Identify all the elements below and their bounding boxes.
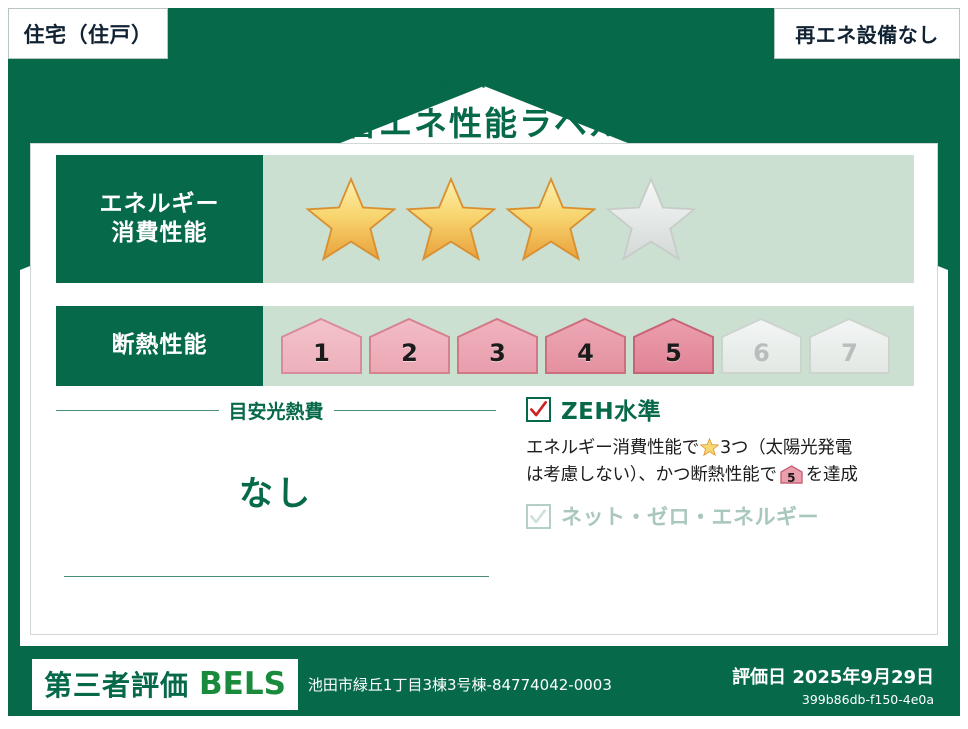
- utility-cost-block: 目安光熱費 なし: [56, 397, 496, 515]
- insulation-performance-value: 1 2: [263, 306, 914, 386]
- insulation-house-3-number: 3: [455, 339, 540, 367]
- zeh-desc-part1: エネルギー消費性能で: [526, 438, 699, 458]
- utility-cost-heading-text: 目安光熱費: [229, 397, 324, 424]
- insulation-performance-label: 断熱性能: [56, 306, 263, 386]
- footer-evaluation-id: 399b86db-f150-4e0a: [732, 692, 934, 707]
- label-subtitle: 建築物省エネ法に基づく: [0, 65, 968, 92]
- net-zero-energy-checkbox[interactable]: [526, 504, 551, 529]
- energy-performance-label: エネルギー 消費性能: [56, 155, 263, 283]
- zeh-desc-part2: は考慮しない）、かつ断熱性能で: [526, 465, 777, 485]
- energy-performance-value: [263, 155, 914, 283]
- tag-building-type-label: 住宅（住戸）: [24, 19, 153, 49]
- tag-renewable-energy-label: 再エネ設備なし: [795, 19, 939, 48]
- zeh-desc-part3: を達成: [806, 465, 858, 485]
- label-footer: 第三者評価 BELS 池田市緑丘1丁目3棟3号棟-84774042-0003 評…: [8, 648, 960, 721]
- insulation-house-5: 5: [631, 317, 716, 375]
- energy-performance-row: エネルギー 消費性能: [56, 155, 914, 283]
- utility-cost-value: なし: [56, 466, 496, 515]
- zeh-description: エネルギー消費性能で 3つ（太陽光発電 は考慮しない）、かつ断熱性能で 5 を達…: [526, 435, 916, 489]
- insulation-house-6-number: 6: [719, 339, 804, 367]
- bels-badge: 第三者評価 BELS: [32, 659, 298, 710]
- zeh-desc-star-count: 3つ（太陽光発電: [720, 438, 852, 458]
- utility-cost-heading: 目安光熱費: [56, 397, 496, 424]
- insulation-house-4-number: 4: [543, 339, 628, 367]
- label-title-block: 建築物省エネ法に基づく 省エネ性能ラベル: [0, 65, 968, 145]
- zeh-title-row: ZEH水準: [526, 392, 916, 426]
- net-zero-energy-label: ネット・ゼロ・エネルギー: [561, 501, 819, 531]
- bels-badge-jp: 第三者評価: [44, 664, 189, 704]
- insulation-house-2: 2: [367, 317, 452, 375]
- footer-evaluation-info: 評価日 2025年9月29日 399b86db-f150-4e0a: [732, 663, 934, 707]
- insulation-house-4: 4: [543, 317, 628, 375]
- star-icon-filled-1: [305, 175, 397, 263]
- star-icon-empty-4: [605, 175, 697, 263]
- bels-energy-label: 住宅（住戸） 再エネ設備なし 建築物省エネ法に基づく 省エネ性能ラベル エネルギ…: [0, 0, 968, 729]
- check-icon: [529, 400, 548, 419]
- tag-building-type: 住宅（住戸）: [8, 8, 168, 59]
- star-icon-filled-2: [405, 175, 497, 263]
- zeh-checkbox[interactable]: [526, 397, 551, 422]
- heading-rule-right: [334, 410, 497, 411]
- insulation-performance-label-text: 断熱性能: [112, 331, 208, 360]
- insulation-house-1: 1: [279, 317, 364, 375]
- mini-star-icon: [700, 438, 719, 456]
- energy-performance-label-line1: エネルギー: [100, 190, 220, 219]
- mini-house-badge: 5: [779, 465, 804, 484]
- insulation-performance-row: 断熱性能 1: [56, 306, 914, 386]
- label-title: 省エネ性能ラベル: [0, 97, 968, 145]
- tag-renewable-energy: 再エネ設備なし: [774, 8, 960, 59]
- utility-cost-bottom-rule: [64, 576, 489, 577]
- star-icon-filled-3: [505, 175, 597, 263]
- insulation-house-1-number: 1: [279, 339, 364, 367]
- star-rating: [305, 175, 697, 263]
- footer-evaluation-date: 評価日 2025年9月29日: [732, 663, 934, 689]
- insulation-house-7-number: 7: [807, 339, 892, 367]
- footer-address: 池田市緑丘1丁目3棟3号棟-84774042-0003: [308, 674, 612, 695]
- insulation-house-3: 3: [455, 317, 540, 375]
- check-icon-faded: [529, 507, 548, 526]
- mini-house-badge-number: 5: [779, 469, 804, 488]
- label-content-card: エネルギー 消費性能: [30, 143, 938, 635]
- energy-performance-label-line2: 消費性能: [112, 219, 208, 248]
- insulation-house-5-number: 5: [631, 339, 716, 367]
- insulation-level-scale: 1 2: [279, 317, 892, 375]
- zeh-block: ZEH水準 エネルギー消費性能で 3つ（太陽光発電 は考慮しない）、かつ断熱性能…: [526, 392, 916, 531]
- insulation-house-7: 7: [807, 317, 892, 375]
- insulation-house-6: 6: [719, 317, 804, 375]
- zeh-title-label: ZEH水準: [561, 392, 661, 426]
- bels-badge-en: BELS: [199, 666, 286, 702]
- heading-rule-left: [56, 410, 219, 411]
- net-zero-energy-row: ネット・ゼロ・エネルギー: [526, 501, 916, 531]
- insulation-house-2-number: 2: [367, 339, 452, 367]
